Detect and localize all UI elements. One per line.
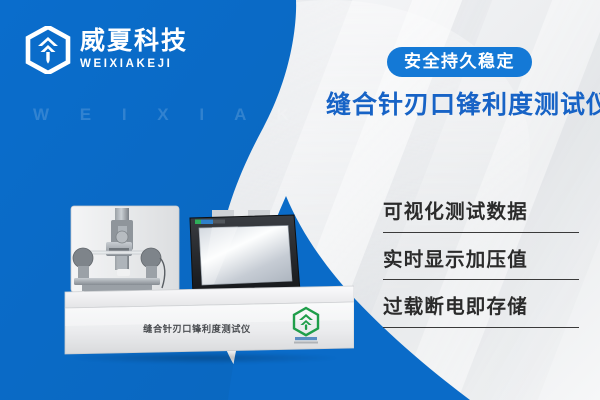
product-photo: 缝合针刃口锋利度测试仪 xyxy=(62,196,354,366)
feature-item: 可视化测试数据 xyxy=(383,203,579,233)
brand-name-en: WEIXIAKEJI xyxy=(80,59,188,71)
feature-list: 可视化测试数据 实时显示加压值 过载断电即存储 xyxy=(383,203,579,346)
feature-label: 过载断电即存储 xyxy=(383,298,579,327)
feature-divider xyxy=(383,327,579,328)
product-banner: W E I X I A K E J I 威夏科技 WEIXIAKEJI 安全持久… xyxy=(0,0,600,400)
feature-label: 实时显示加压值 xyxy=(383,251,579,280)
tagline-badge: 安全持久稳定 xyxy=(387,47,532,77)
hexagon-emblem-icon xyxy=(25,26,71,74)
feature-item: 实时显示加压值 xyxy=(383,251,579,281)
brand-logo-lockup: 威夏科技 WEIXIAKEJI xyxy=(25,26,188,74)
feature-divider xyxy=(383,279,579,280)
feature-item: 过载断电即存储 xyxy=(383,298,579,328)
hmi-touchscreen-icon xyxy=(190,215,300,296)
brand-name-cn: 威夏科技 xyxy=(80,29,188,54)
page-title: 缝合针刃口锋利度测试仪 xyxy=(326,92,600,120)
feature-divider xyxy=(383,232,579,233)
brand-wordmark: 威夏科技 WEIXIAKEJI xyxy=(80,29,188,71)
product-front-label: 缝合针刃口锋利度测试仪 xyxy=(143,323,251,334)
feature-label: 可视化测试数据 xyxy=(383,203,579,232)
